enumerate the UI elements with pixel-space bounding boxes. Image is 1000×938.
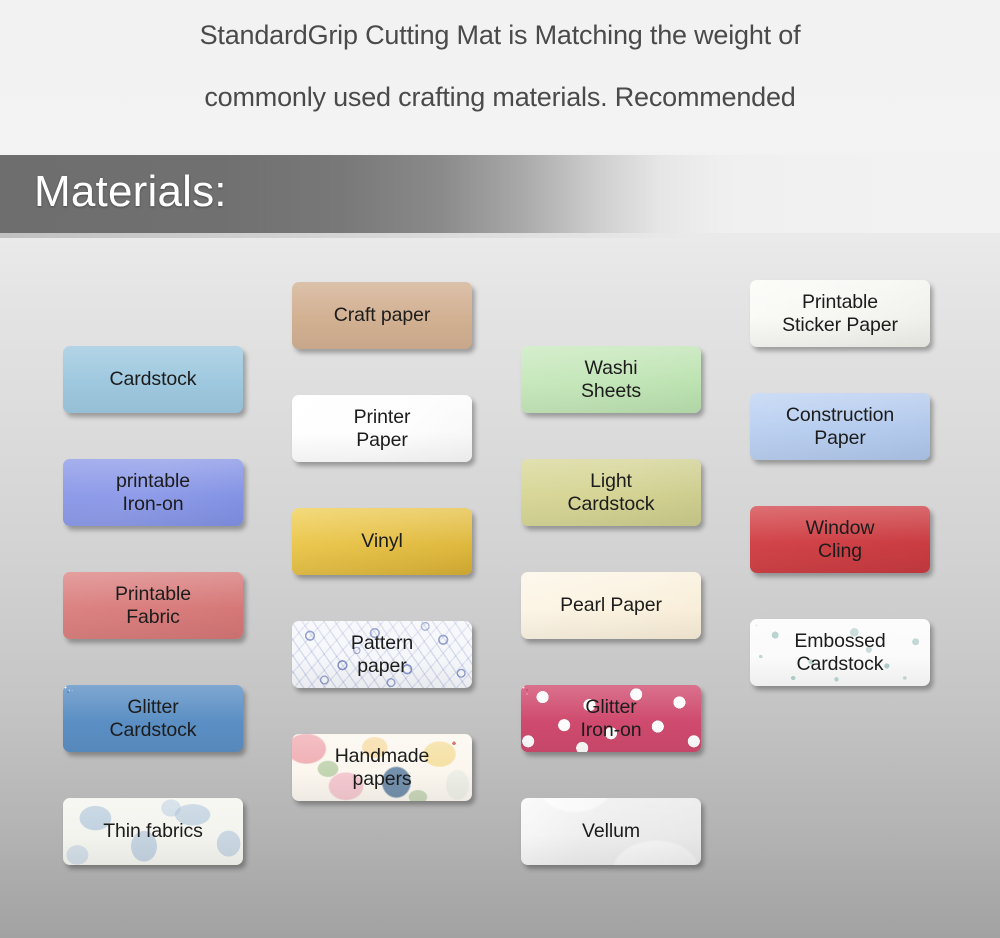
material-swatch-printable-sticker-paper: PrintableSticker Paper [750,280,930,347]
material-swatch-label: GlitterCardstock [106,696,201,742]
material-swatch-label: Craft paper [330,304,434,327]
material-swatch-label: Patternpaper [347,632,417,678]
material-swatch-printer-paper: PrinterPaper [292,395,472,462]
material-swatch-label: LightCardstock [564,470,659,516]
materials-swatch-grid: CardstockprintableIron-onPrintableFabric… [0,0,1000,938]
material-swatch-pearl-paper: Pearl Paper [521,572,701,639]
material-swatch-label: PrintableFabric [111,583,195,629]
material-swatch-label: Pearl Paper [556,594,666,617]
material-swatch-label: WashiSheets [577,357,645,403]
material-swatch-label: PrinterPaper [350,406,415,452]
material-swatch-label: ConstructionPaper [782,404,898,450]
material-swatch-light-cardstock: LightCardstock [521,459,701,526]
material-swatch-label: Vellum [578,820,644,843]
material-swatch-handmade-papers: Handmadepapers [292,734,472,801]
material-swatch-label: Thin fabrics [99,820,207,843]
material-swatch-washi-sheets: WashiSheets [521,346,701,413]
material-swatch-label: PrintableSticker Paper [778,291,902,337]
material-swatch-craft-paper: Craft paper [292,282,472,349]
material-swatch-printable-fabric: PrintableFabric [63,572,243,639]
material-swatch-label: WindowCling [802,517,879,563]
material-swatch-glitter-cardstock: GlitterCardstock [63,685,243,752]
material-swatch-label: EmbossedCardstock [790,630,889,676]
material-swatch-label: Vinyl [357,530,406,553]
material-swatch-label: Handmadepapers [331,745,434,791]
material-swatch-cardstock: Cardstock [63,346,243,413]
material-swatch-thin-fabrics: Thin fabrics [63,798,243,865]
material-swatch-label: GlitterIron-on [576,696,645,742]
material-swatch-glitter-iron-on: GlitterIron-on [521,685,701,752]
material-swatch-embossed-cardstock: EmbossedCardstock [750,619,930,686]
material-swatch-label: Cardstock [106,368,201,391]
material-swatch-window-cling: WindowCling [750,506,930,573]
material-swatch-pattern-paper: Patternpaper [292,621,472,688]
material-swatch-vellum: Vellum [521,798,701,865]
material-swatch-vinyl: Vinyl [292,508,472,575]
material-swatch-printable-iron-on: printableIron-on [63,459,243,526]
page-background: StandardGrip Cutting Mat is Matching the… [0,0,1000,938]
material-swatch-construction-paper: ConstructionPaper [750,393,930,460]
material-swatch-label: printableIron-on [112,470,194,516]
